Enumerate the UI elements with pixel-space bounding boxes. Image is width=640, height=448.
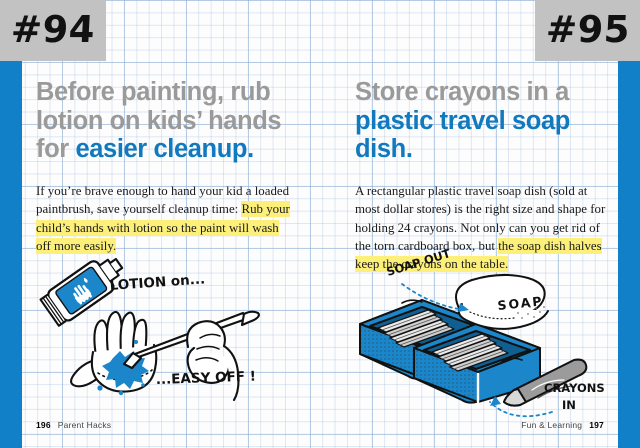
left-page-number: 196 xyxy=(36,420,51,430)
left-spine-bar xyxy=(0,61,22,448)
left-footer-title: Parent Hacks xyxy=(58,420,111,430)
right-page-body: A rectangular plastic travel soap dish (… xyxy=(355,182,613,274)
lotion-on-label: LOTION on... xyxy=(109,271,205,294)
left-page-column: Before painting, rub lotion on kids’ han… xyxy=(36,78,294,268)
left-page-footer: 196Parent Hacks xyxy=(36,420,111,430)
right-page-column: Store crayons in a plastic travel soap d… xyxy=(355,78,613,287)
right-heading-accent: plastic travel soap dish. xyxy=(355,107,570,164)
crayons-in-label-line2: IN xyxy=(562,398,576,412)
hack-number-right: #95 xyxy=(544,11,630,51)
hack-number-badge-right: #95 xyxy=(535,0,640,61)
lotion-illustration: LOTION on... ...EASY OFF ! xyxy=(38,252,300,407)
right-page-heading: Store crayons in a plastic travel soap d… xyxy=(355,78,613,164)
easy-off-label: ...EASY OFF ! xyxy=(156,369,257,388)
left-page-heading: Before painting, rub lotion on kids’ han… xyxy=(36,78,294,164)
crayons-in-label-line1: CRAYONS xyxy=(544,381,605,395)
right-page-number: 197 xyxy=(589,420,604,430)
soap-dish-illustration: SOAP OUT SOAP CRAYONS IN xyxy=(352,262,628,414)
left-heading-accent: easier cleanup. xyxy=(75,135,253,163)
gripping-hand-icon xyxy=(187,321,238,400)
hack-number-badge-left: #94 xyxy=(0,0,106,61)
book-spread-page: #94 #95 Before painting, rub lotion on k… xyxy=(0,0,640,448)
left-page-body: If you’re brave enough to hand your kid … xyxy=(36,182,294,255)
right-heading-plain: Store crayons in a xyxy=(355,78,569,106)
right-footer-title: Fun & Learning xyxy=(521,420,582,430)
hack-number-left: #94 xyxy=(10,11,96,51)
right-page-footer: Fun & Learning197 xyxy=(521,420,604,430)
